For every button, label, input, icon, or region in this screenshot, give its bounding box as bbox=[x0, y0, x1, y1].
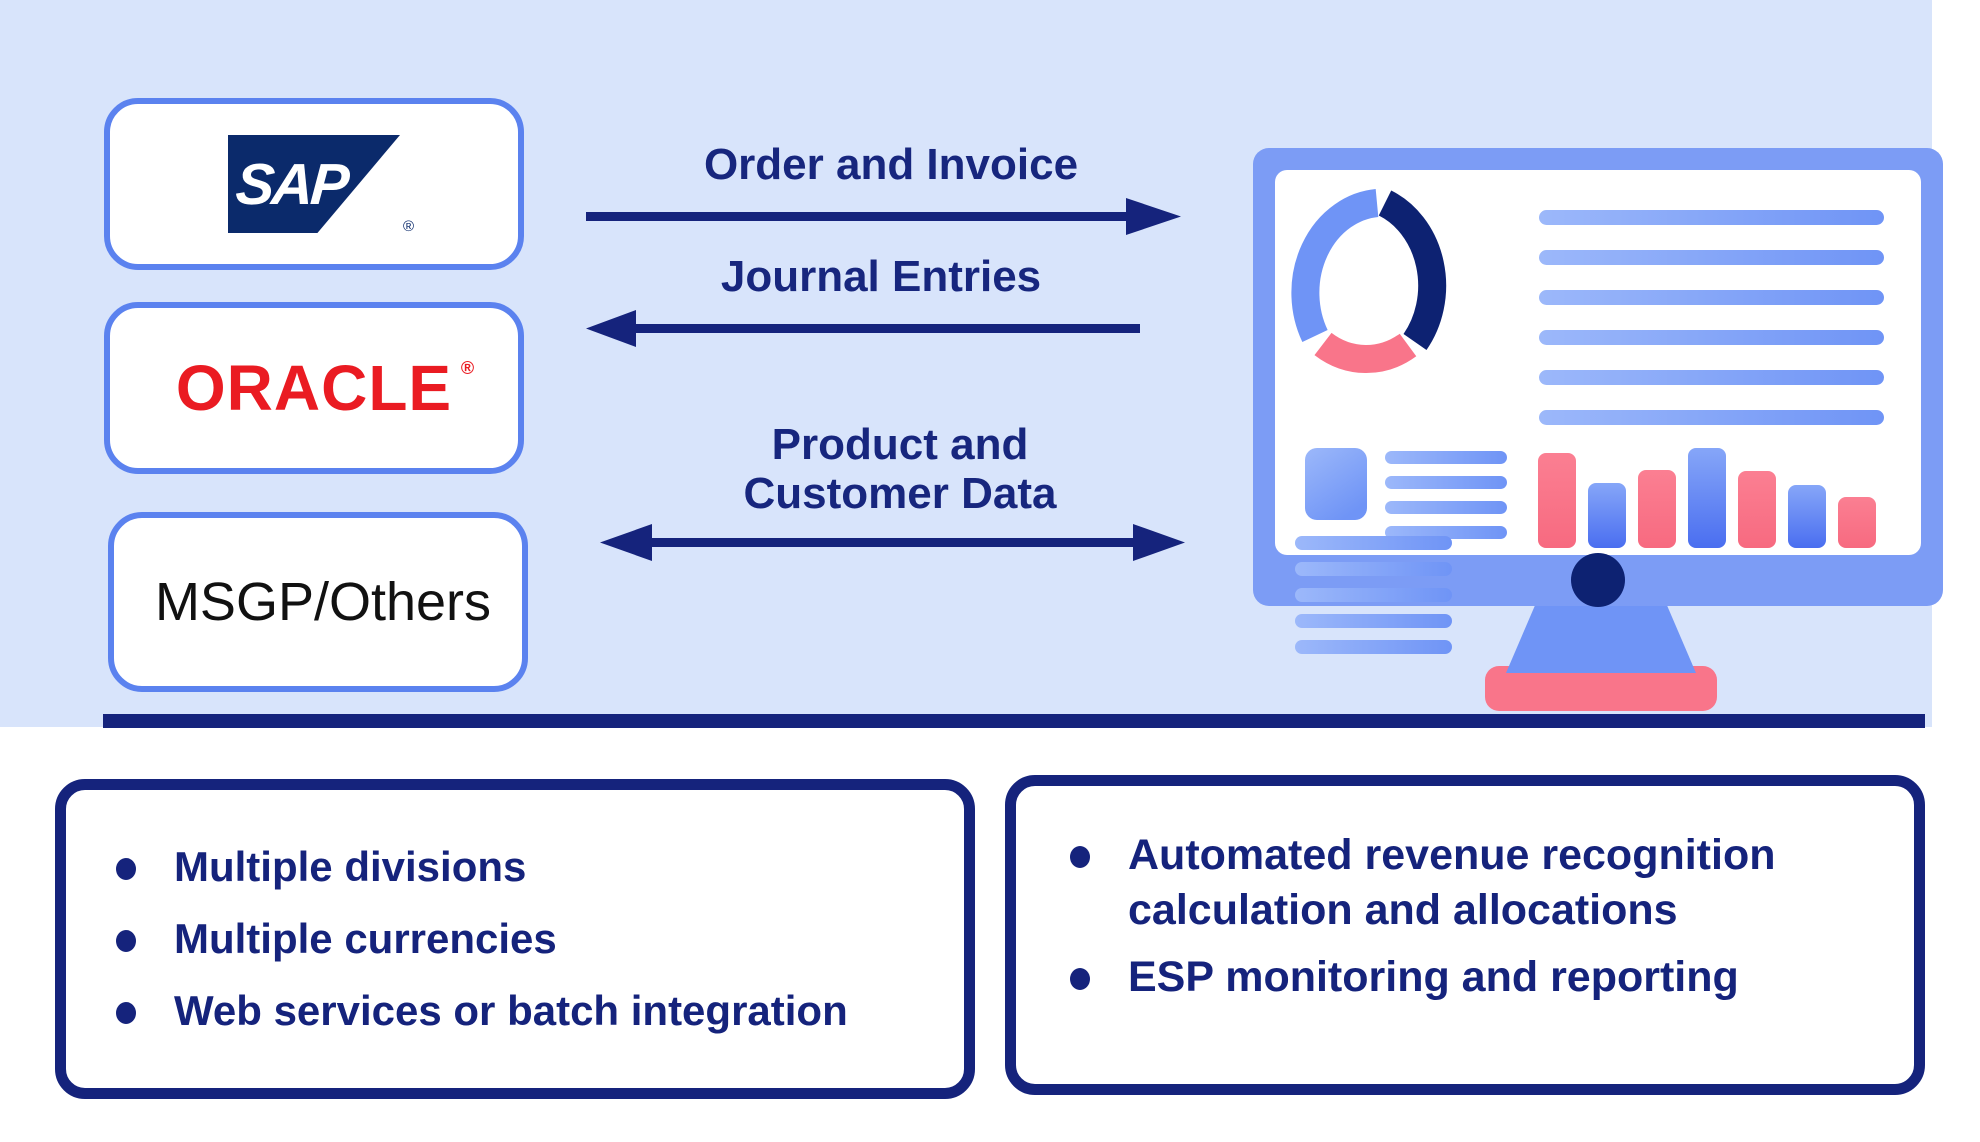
oracle-trademark-icon: ® bbox=[461, 358, 474, 379]
source-card-msgp[interactable]: MSGP/Others bbox=[108, 512, 528, 692]
list-item: ESP monitoring and reporting bbox=[1060, 950, 1888, 1005]
power-dot-icon bbox=[1571, 553, 1625, 607]
dashboard-monitor-illustration bbox=[1253, 148, 1943, 718]
flow-order-invoice-label: Order and Invoice bbox=[586, 140, 1196, 189]
flow-journal-entries: Journal Entries bbox=[586, 252, 1176, 372]
sap-logo-icon: SAP ® bbox=[228, 135, 400, 233]
flow-journal-entries-label: Journal Entries bbox=[586, 252, 1176, 301]
oracle-logo-label: ORACLE bbox=[176, 352, 452, 424]
section-divider bbox=[103, 714, 1925, 728]
flow-product-customer-data: Product and Customer Data bbox=[600, 420, 1200, 600]
source-card-msgp-label: MSGP/Others bbox=[114, 571, 522, 633]
capabilities-card-left: Multiple divisions Multiple currencies W… bbox=[55, 779, 975, 1099]
flow-product-customer-data-label: Product and Customer Data bbox=[600, 420, 1200, 519]
diagram-canvas: SAP ® ORACLE ® MSGP/Others Order and Inv… bbox=[0, 0, 1980, 1142]
source-card-sap[interactable]: SAP ® bbox=[104, 98, 524, 270]
list-item: Multiple currencies bbox=[106, 912, 938, 966]
list-item: Web services or batch integration bbox=[106, 984, 938, 1038]
list-item: Multiple divisions bbox=[106, 840, 938, 894]
list-item: Automated revenue recognition calculatio… bbox=[1060, 828, 1888, 938]
capabilities-list-right: Automated revenue recognition calculatio… bbox=[1060, 828, 1888, 1017]
flow-order-invoice: Order and Invoice bbox=[586, 140, 1196, 260]
sap-trademark-icon: ® bbox=[403, 218, 414, 235]
oracle-logo-icon: ORACLE ® bbox=[176, 356, 452, 420]
sap-logo-label: SAP bbox=[234, 151, 349, 218]
capabilities-list-left: Multiple divisions Multiple currencies W… bbox=[106, 840, 938, 1055]
monitor-stand bbox=[1506, 603, 1696, 673]
source-card-oracle[interactable]: ORACLE ® bbox=[104, 302, 524, 474]
capabilities-card-right: Automated revenue recognition calculatio… bbox=[1005, 775, 1925, 1095]
